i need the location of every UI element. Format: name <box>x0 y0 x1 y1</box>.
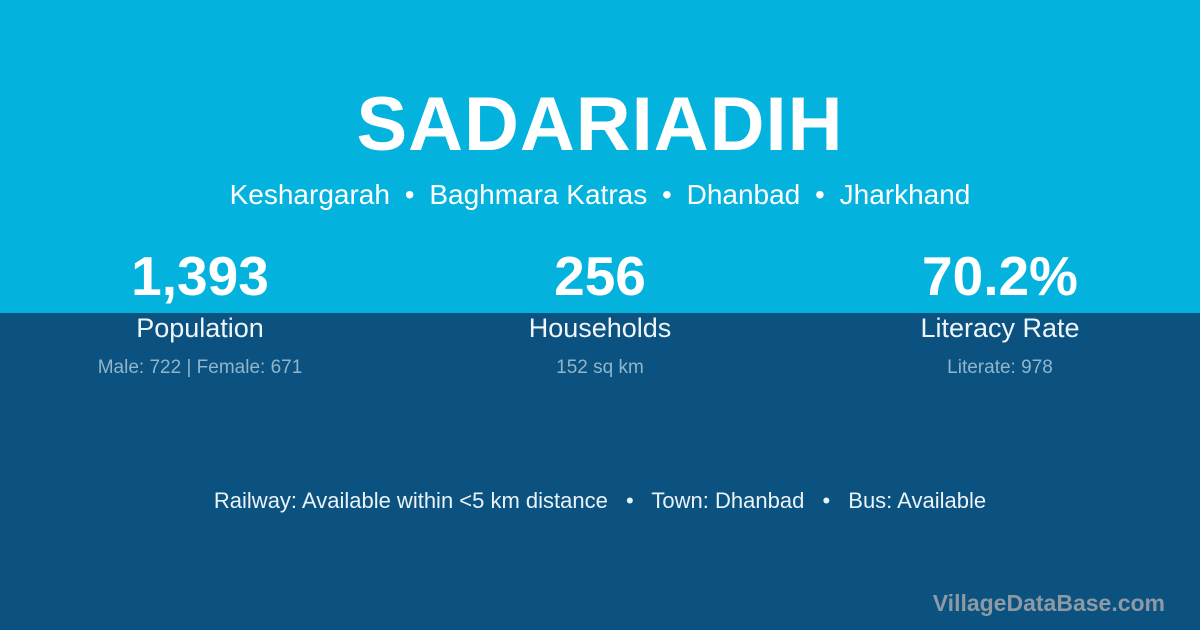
stat-label: Households <box>400 309 800 345</box>
stat-label: Population <box>0 309 400 345</box>
stat-subtext: Literate: 978 <box>800 345 1200 381</box>
breadcrumb-separator-icon: • <box>808 179 832 210</box>
breadcrumb-separator-icon: • <box>655 179 679 210</box>
stat-literacy-rate: 70.2% Literacy Rate Literate: 978 <box>800 243 1200 381</box>
facility-bus: Bus: Available <box>848 488 986 513</box>
breadcrumb: Keshargarah • Baghmara Katras • Dhanbad … <box>0 168 1200 212</box>
stat-households: 256 Households 152 sq km <box>400 243 800 381</box>
facility-separator-icon: • <box>810 488 842 513</box>
facility-separator-icon: • <box>614 488 646 513</box>
stats-row: 1,393 Population Male: 722 | Female: 671… <box>0 243 1200 381</box>
stat-value: 256 <box>400 243 800 309</box>
stat-value: 70.2% <box>800 243 1200 309</box>
stat-subtext: Male: 722 | Female: 671 <box>0 345 400 381</box>
site-branding: VillageDataBase.com <box>933 588 1165 618</box>
facilities-line: Railway: Available within <5 km distance… <box>0 486 1200 516</box>
stat-population: 1,393 Population Male: 722 | Female: 671 <box>0 243 400 381</box>
breadcrumb-item-block: Keshargarah <box>230 179 390 210</box>
facility-railway: Railway: Available within <5 km distance <box>214 488 608 513</box>
facility-town: Town: Dhanbad <box>651 488 804 513</box>
breadcrumb-item-district: Dhanbad <box>687 179 801 210</box>
card-header: SADARIADIH Keshargarah • Baghmara Katras… <box>0 0 1200 212</box>
breadcrumb-separator-icon: • <box>398 179 422 210</box>
stat-label: Literacy Rate <box>800 309 1200 345</box>
village-info-card: SADARIADIH Keshargarah • Baghmara Katras… <box>0 0 1200 630</box>
stat-value: 1,393 <box>0 243 400 309</box>
breadcrumb-item-tehsil: Baghmara Katras <box>429 179 647 210</box>
stat-subtext: 152 sq km <box>400 345 800 381</box>
page-title: SADARIADIH <box>0 0 1200 168</box>
breadcrumb-item-state: Jharkhand <box>840 179 971 210</box>
